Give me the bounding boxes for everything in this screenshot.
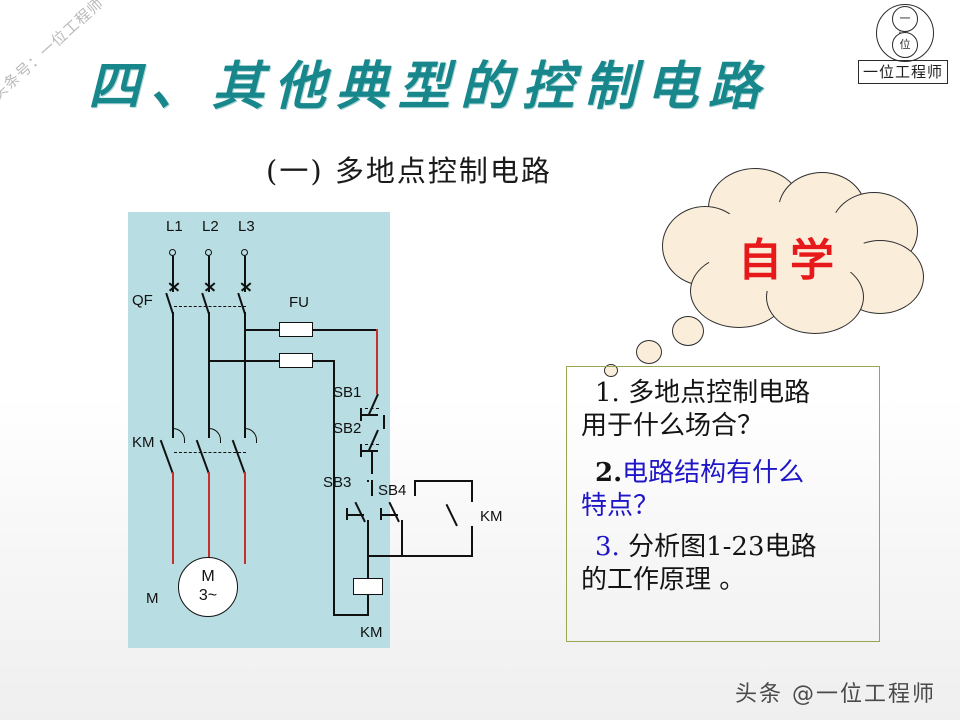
questions-box: 1. 多地点控制电路 用于什么场合？ 2.电路结构有什么 特点？ 3. 分析图1… [566, 366, 880, 642]
terminal-l1 [169, 249, 176, 256]
label-sb1: SB1 [333, 384, 361, 401]
branch-top-rail [414, 480, 472, 482]
question-1-number: 1. [595, 378, 620, 408]
sb4-out-wire [401, 520, 403, 556]
wire-motor-feed-w [244, 472, 246, 564]
km-coil [353, 578, 383, 595]
label-km-coil: KM [360, 624, 383, 641]
slide-root: 头条号：一位工程师 一 与 位 一位工程师 四、其他典型的控制电路 (一) 多地… [0, 0, 960, 720]
sb2-blade [368, 430, 378, 451]
sb4-label-divider-right [414, 480, 416, 496]
sb1-link-dash [365, 408, 379, 409]
motor-symbol: M 3~ [178, 557, 238, 617]
label-l3: L3 [238, 218, 255, 235]
branch-right-down [471, 480, 473, 502]
sb2-actuator-bar [360, 450, 378, 452]
wire-fuse2-out [313, 360, 335, 362]
page-subtitle: (一) 多地点控制电路 [266, 148, 552, 190]
page-title: 四、其他典型的控制电路 [88, 44, 770, 119]
km-contact-2-arc [208, 428, 221, 443]
label-km-main: KM [132, 434, 155, 451]
fuse-1 [279, 322, 313, 337]
logo-inner-circle-bottom: 位 [892, 32, 918, 58]
label-fu: FU [289, 294, 309, 311]
km-mechanical-linkage [174, 452, 246, 453]
motor-label-bottom: 3~ [179, 587, 237, 605]
question-2-number: 2. [595, 458, 622, 488]
sb2-link-dash [365, 444, 379, 445]
question-1-line-1: 1. 多地点控制电路 [581, 377, 869, 410]
circuit-diagram-panel: L1 L2 L3 QF FU [128, 212, 390, 648]
wire-motor-feed-v [208, 472, 210, 558]
wire-l3-mid [244, 312, 246, 438]
question-item-3: 3. 分析图1-23电路 的工作原理 。 [581, 531, 869, 597]
km-contact-1-blade [160, 440, 174, 474]
terminal-l2 [205, 249, 212, 256]
wire-tap-l2-to-fuse2 [208, 360, 280, 362]
km-contact-1-arc [172, 428, 185, 443]
sb1-actuator-bar [360, 414, 378, 416]
cloud-bubble-large [672, 316, 704, 346]
question-3-line-2: 的工作原理 。 [581, 564, 869, 597]
label-l2: L2 [202, 218, 219, 235]
wire-motor-feed-u [172, 472, 174, 564]
wire-l2-mid [208, 312, 210, 438]
wire-control-return [333, 614, 369, 616]
brand-logo: 一 与 位 一位工程师 [856, 2, 952, 94]
km-contact-3-blade [232, 440, 246, 474]
sb3-blade [354, 502, 365, 522]
qf-mechanical-linkage [174, 306, 246, 307]
label-sb4: SB4 [378, 482, 406, 499]
question-item-2: 2.电路结构有什么 特点？ [581, 457, 869, 523]
question-3-number: 3. [595, 532, 620, 562]
label-l1: L1 [166, 218, 183, 235]
logo-caption: 一位工程师 [858, 60, 948, 84]
question-item-1: 1. 多地点控制电路 用于什么场合？ [581, 377, 869, 443]
label-motor: M [146, 590, 159, 607]
sb1-out-wire [383, 415, 385, 429]
wire-l1-mid [172, 312, 174, 438]
cloud-bubble-small [636, 340, 662, 364]
bottom-watermark: 头条 @一位工程师 [735, 676, 936, 708]
label-km-aux: KM [480, 508, 503, 525]
sb3-out-wire [367, 520, 369, 556]
label-sb2: SB2 [333, 420, 361, 437]
label-qf: QF [132, 292, 153, 309]
question-2-line-1: 2.电路结构有什么 [581, 457, 869, 490]
cloud-text: 自学 [702, 224, 878, 288]
terminal-l3 [241, 249, 248, 256]
sb4-label-divider-left [371, 480, 373, 496]
km-contact-3-arc [244, 428, 257, 443]
question-2-line-2: 特点？ [581, 490, 869, 523]
label-sb3: SB3 [323, 474, 351, 491]
branch-bottom-rail [367, 555, 473, 557]
sb2-out-wire [371, 452, 373, 474]
fuse-2 [279, 353, 313, 368]
branch-node-left [367, 480, 369, 482]
question-1-text-a: 多地点控制电路 [628, 378, 810, 408]
motor-label-top: M [179, 568, 237, 586]
sb2-actuator-stem [360, 444, 362, 457]
question-1-line-2: 用于什么场合？ [581, 410, 869, 443]
km-aux-blade [446, 504, 458, 526]
wire-tap-l3-to-fuse1 [244, 329, 280, 331]
question-2-text-a: 电路结构有什么 [622, 458, 804, 488]
wire-coil-out [367, 595, 369, 615]
thought-cloud: 自学 [650, 168, 930, 348]
sb4-blade [388, 502, 399, 522]
wire-fuse1-out [313, 329, 378, 331]
km-contact-2-blade [196, 440, 210, 474]
wire-control-right-rail [376, 329, 378, 394]
question-3-text-a: 分析图1-23电路 [628, 532, 816, 562]
km-aux-out-wire [471, 526, 473, 556]
question-3-line-1: 3. 分析图1-23电路 [581, 531, 869, 564]
sb1-blade [368, 394, 378, 415]
wire-to-coil [367, 555, 369, 579]
